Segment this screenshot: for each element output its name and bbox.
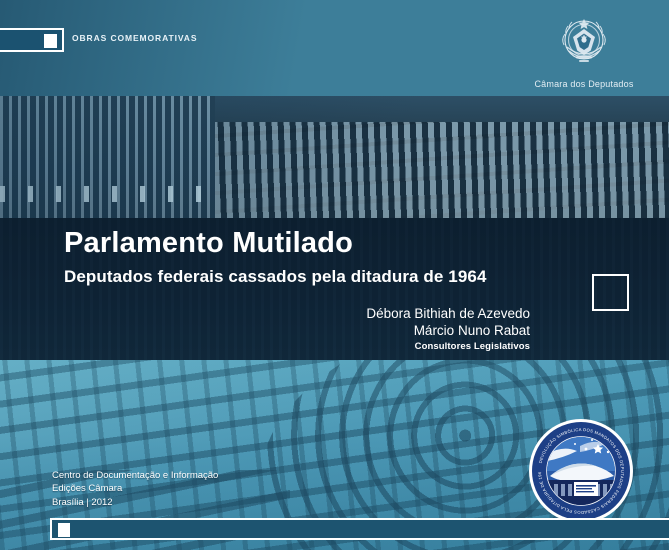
- chamber-wall: [0, 96, 215, 220]
- chamber-photo-upper: [0, 96, 669, 220]
- chamber-seat-rows-dark: [215, 96, 669, 220]
- institution-name: Câmara dos Deputados: [519, 79, 649, 89]
- commemorative-seal-icon: DEVOLUÇÃO SIMBÓLICA DOS MANDATOS DOS DEP…: [528, 418, 634, 524]
- footer-bar: [50, 518, 669, 540]
- white-square-marker-icon: [44, 34, 57, 48]
- collection-bar: [0, 28, 64, 52]
- page-subtitle: Deputados federais cassados pela ditadur…: [64, 267, 487, 287]
- white-square-marker-icon: [58, 523, 70, 537]
- collection-label: OBRAS COMEMORATIVAS: [72, 33, 197, 43]
- imprint-line-3: Brasília | 2012: [52, 496, 218, 509]
- author-role: Consultores Legislativos: [366, 341, 530, 352]
- brazil-coat-of-arms-icon: [556, 14, 612, 72]
- imprint-line-1: Centro de Documentação e Informação: [52, 469, 218, 482]
- author-name-2: Márcio Nuno Rabat: [366, 322, 530, 339]
- imprint-line-2: Edições Câmara: [52, 482, 218, 495]
- book-cover: OBRAS COMEMORATIVAS: [0, 0, 669, 550]
- imprint-block: Centro de Documentação e Informação Ediç…: [52, 469, 218, 509]
- author-block: Débora Bithiah de Azevedo Márcio Nuno Ra…: [366, 305, 530, 352]
- white-square-outline-icon: [592, 274, 629, 311]
- page-title: Parlamento Mutilado: [64, 228, 353, 258]
- institution-brand: Câmara dos Deputados: [519, 14, 649, 89]
- author-name-1: Débora Bithiah de Azevedo: [366, 305, 530, 322]
